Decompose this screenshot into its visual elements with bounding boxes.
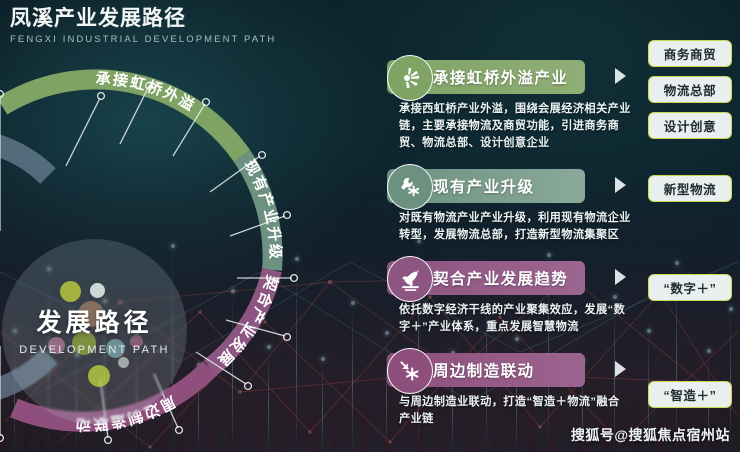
path-item-3-title: 契合产业发展趋势 — [433, 267, 568, 289]
center-label: 发展路径 DEVELOPMENT PATH — [2, 239, 187, 424]
path-item-1[interactable]: 承接虹桥外溢产业 承接西虹桥产业外溢，围绕会展经济相关产业链，主要承接物流及商贸… — [366, 60, 634, 152]
tag-business-trade[interactable]: 商务商贸 — [648, 40, 732, 67]
infographic-canvas: 凤溪产业发展路径 FENGXI INDUSTRIAL DEVELOPMENT P… — [0, 0, 740, 452]
tag-design-creative[interactable]: 设计创意 — [648, 112, 732, 139]
rocket-launch-icon — [387, 256, 433, 302]
path-item-1-title: 承接虹桥外溢产业 — [433, 66, 568, 88]
play-arrow-icon — [615, 269, 626, 285]
path-item-3-desc: 依托数字经济干线的产业聚集效应，发展“数字＋”产业体系，重点发展智慧物流 — [399, 302, 631, 336]
path-item-1-pill[interactable]: 承接虹桥外溢产业 — [387, 60, 585, 94]
play-arrow-icon — [615, 177, 626, 193]
path-item-3-pill[interactable]: 契合产业发展趋势 — [387, 261, 585, 295]
path-items: 承接虹桥外溢产业 承接西虹桥产业外溢，围绕会展经济相关产业链，主要承接物流及商贸… — [366, 60, 634, 445]
path-item-2-title: 现有产业升级 — [433, 175, 534, 197]
path-item-4-desc: 与周边制造业联动，打造“智造＋物流”融合产业链 — [399, 394, 631, 428]
play-arrow-icon — [615, 361, 626, 377]
development-path-ring: 承接虹桥外溢 现有产业升级 契合产业发展 周边制造联动 发展路径 — [0, 56, 340, 452]
play-arrow-icon — [615, 68, 626, 84]
tag-new-logistics-label: 新型物流 — [664, 179, 716, 198]
path-item-2-desc: 对既有物流产业产业升级，利用现有物流企业转型，发展物流总部，打造新型物流集聚区 — [399, 210, 631, 244]
path-item-4-pill[interactable]: 周边制造联动 — [387, 353, 585, 387]
tag-smart-manufacturing-plus[interactable]: “智造＋” — [648, 381, 732, 408]
path-item-4-title: 周边制造联动 — [433, 359, 534, 381]
tag-digital-plus-label: “数字＋” — [663, 278, 716, 297]
ring-segment-1 — [2, 79, 242, 156]
ring-label-3: 契合产业发展 — [213, 272, 282, 370]
watermark: 搜狐号@搜狐焦点宿州站 — [571, 425, 730, 445]
center-title-en: DEVELOPMENT PATH — [19, 344, 170, 356]
keyword-tags: 商务商贸 物流总部 设计创意 新型物流 “数字＋” “智造＋” — [648, 40, 732, 417]
path-item-3[interactable]: 契合产业发展趋势 依托数字经济干线的产业聚集效应，发展“数字＋”产业体系，重点发… — [366, 261, 634, 336]
path-item-2-pill[interactable]: 现有产业升级 — [387, 169, 585, 203]
burst-spark-icon — [387, 55, 433, 101]
tag-business-trade-label: 商务商贸 — [664, 44, 716, 63]
tag-logistics-hq[interactable]: 物流总部 — [648, 76, 732, 103]
tag-design-creative-label: 设计创意 — [664, 116, 716, 135]
tag-new-logistics[interactable]: 新型物流 — [648, 175, 732, 202]
tag-logistics-hq-label: 物流总部 — [664, 80, 716, 99]
tag-digital-plus[interactable]: “数字＋” — [648, 274, 732, 301]
tag-smart-manufacturing-plus-label: “智造＋” — [663, 385, 716, 404]
page-header: 凤溪产业发展路径 FENGXI INDUSTRIAL DEVELOPMENT P… — [10, 6, 276, 47]
center-title-cn: 发展路径 — [36, 307, 152, 339]
path-item-2[interactable]: 现有产业升级 对既有物流产业产业升级，利用现有物流企业转型，发展物流总部，打造新… — [366, 169, 634, 244]
path-item-1-desc: 承接西虹桥产业外溢，围绕会展经济相关产业链，主要承接物流及商贸功能，引进商务商贸… — [399, 101, 631, 152]
wrench-gear-icon — [387, 164, 433, 210]
arrow-converge-icon — [387, 348, 433, 394]
path-item-4[interactable]: 周边制造联动 与周边制造业联动，打造“智造＋物流”融合产业链 — [366, 353, 634, 428]
page-title-cn: 凤溪产业发展路径 — [10, 6, 276, 32]
page-title-en: FENGXI INDUSTRIAL DEVELOPMENT PATH — [10, 33, 276, 47]
